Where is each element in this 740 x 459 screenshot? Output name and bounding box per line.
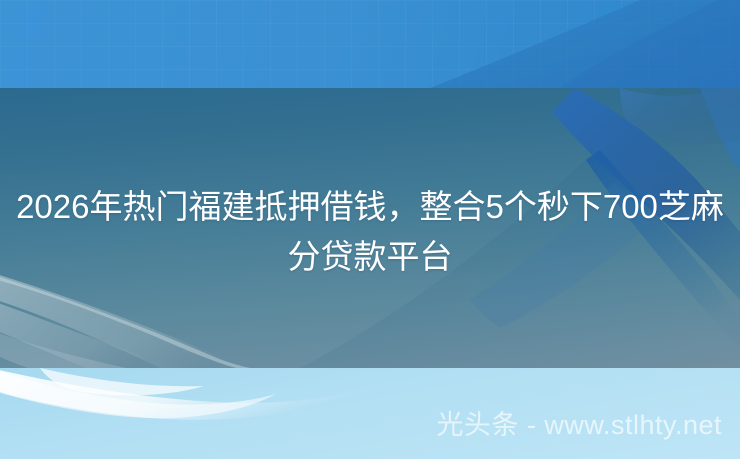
background-band-top	[0, 0, 740, 88]
banner-image: 2026年热门福建抵押借钱，整合5个秒下700芝麻分贷款平台 光头条 - www…	[0, 0, 740, 459]
site-watermark: 光头条 - www.stlhty.net	[0, 406, 740, 444]
page-title: 2026年热门福建抵押借钱，整合5个秒下700芝麻分贷款平台	[0, 182, 740, 282]
